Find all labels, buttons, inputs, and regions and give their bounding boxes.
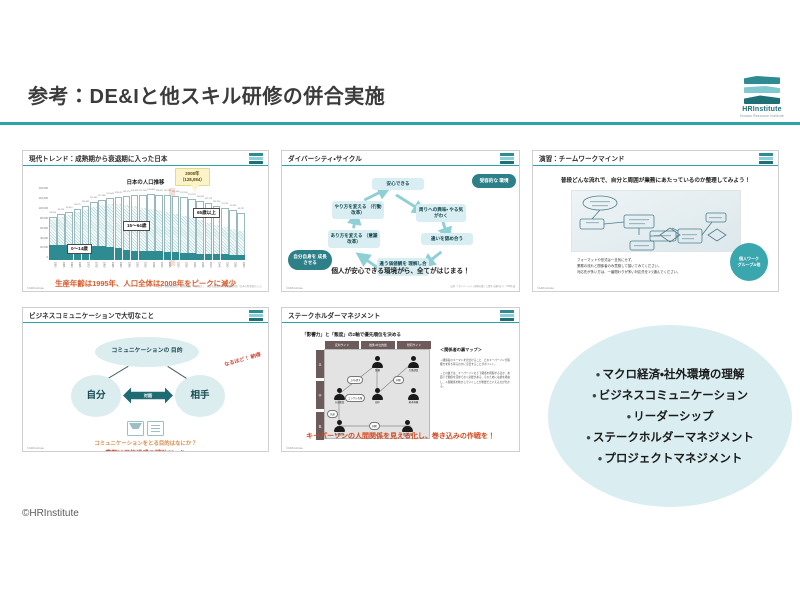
summary-oval-item-label: マクロ経済・社外環境の理解 — [602, 366, 744, 382]
panel-body: 安心できる 周りへの興味・ やる気がわく 違いを認め合う 違う価値観を 理解し合… — [282, 166, 519, 291]
panel-title: ステークホルダーマネジメント — [288, 310, 380, 320]
y-axis-tick-2: 100,000 — [39, 208, 48, 211]
bar-total-label: 107,276 — [205, 198, 213, 200]
slide: 参考：DE&Iと他スキル研修の併合実施 HRInstitute Human Re… — [0, 0, 800, 600]
map-note-body: →関係者のキーマンを見分けること、どのキーパーソンが影響力を持ち得るのかに注目す… — [440, 359, 512, 389]
chart-bar: 117,060 — [98, 200, 106, 260]
bar-total-label: 128,057 — [155, 190, 163, 192]
summary-oval-item-label: ビジネスコミュニケーション — [599, 387, 748, 403]
relationship-pill: 同期 — [393, 376, 404, 384]
bar-segment — [57, 245, 65, 260]
x-axis-tick-11: 2005 — [139, 262, 147, 274]
x-axis-tick-15: 2020 — [172, 262, 180, 274]
bar-segment — [188, 218, 196, 253]
y-axis-tick-3: 80,000 — [40, 218, 48, 221]
summary-oval-item-1: ビジネスコミュニケーション — [592, 387, 748, 403]
panel-body: コミュニケーションの 目的 自分 相手 対話 なるほど！ 納得 コミュニケーショ… — [23, 323, 268, 451]
bar-total-label: 119,125 — [188, 194, 195, 196]
panel-title: ビジネスコミュニケーションで大切なこと — [29, 310, 154, 320]
summary-oval-item-2: リーダーシップ — [626, 408, 713, 424]
bar-segment — [123, 196, 131, 205]
panel-lead-text: 普段どんな流れで、自分と周囲が業務にあたっているのか整理してみよう！ — [533, 176, 778, 184]
panel-business-communication[interactable]: ビジネスコミュニケーションで大切なこと コミュニケーションの 目的 自分 相手 … — [22, 307, 269, 452]
x-axis-tick-4: 1970 — [82, 262, 90, 274]
chart-title: 日本の人口推移 — [127, 178, 165, 186]
panel-title: 演習：チームワークマインド — [539, 153, 625, 163]
panel-instructions: フォーマットや形式は一旦気にせず、 業務の流れと関係者のみ意識して描いてみてくだ… — [577, 258, 680, 275]
panel-header: 現代トレンド：成熟期から衰退期に入った日本 — [23, 151, 268, 166]
flowchart-sketch-icon — [572, 191, 742, 253]
bar-segment — [221, 208, 229, 227]
bar-segment — [123, 250, 131, 260]
bar-total-label: 89,276 — [58, 209, 64, 211]
bar-segment — [106, 204, 114, 246]
logo-mark-icon — [744, 76, 780, 104]
relationship-pill: 同期 — [369, 422, 380, 430]
bar-total-label: 125,570 — [123, 191, 131, 193]
bar-total-label: 127,768 — [139, 190, 147, 192]
bar-total-label: 111,940 — [90, 197, 97, 199]
x-axis-tick-17: 2030 — [188, 262, 196, 274]
panel-diversity-cycle[interactable]: ダイバーシティ・サイクル — [281, 150, 520, 292]
bar-total-label: 97,076 — [222, 203, 228, 205]
bar-segment — [115, 204, 123, 248]
panel-logo-icon — [249, 310, 263, 321]
chart-bar: 97,076 — [221, 208, 229, 260]
x-axis-tick-21: 2050 — [221, 262, 229, 274]
bar-segment — [115, 197, 123, 205]
summary-oval: マクロ経済・社外環境の理解ビジネスコミュニケーションリーダーシップステークホルダ… — [548, 325, 792, 507]
x-axis-tick-5: 1975 — [90, 262, 98, 274]
bar-segment — [139, 195, 147, 208]
y-axis-tick-0: 140,000 — [39, 188, 48, 191]
chart-bar: 123,611 — [115, 197, 123, 260]
panel-message-secondary: 書類は目的達成の補助ツール — [23, 448, 268, 451]
bar-segment — [131, 251, 139, 260]
x-axis-tick-10: 2000 — [131, 262, 139, 274]
bar-segment — [82, 210, 90, 247]
panel-title: ダイバーシティ・サイクル — [288, 153, 362, 163]
copyright: ©HRInstitute — [22, 508, 79, 519]
chart-bar: 89,276 — [57, 214, 65, 260]
bar-total-label: 126,926 — [131, 190, 139, 192]
panel-population-trend[interactable]: 現代トレンド：成熟期から衰退期に入った日本 日本の人口推移 2008年 （128… — [22, 150, 269, 292]
panel-header: ビジネスコミュニケーションで大切なこと — [23, 308, 268, 323]
bar-total-label: 98,275 — [74, 204, 80, 206]
comm-node-other: 相手 — [175, 375, 225, 417]
comm-node-purpose: コミュニケーションの 目的 — [95, 337, 199, 367]
bar-segment — [196, 254, 204, 260]
panel-footer: ©HRInstitute — [537, 286, 554, 290]
bar-segment — [164, 212, 172, 252]
map-note-line-1: →関係者のキーマンを見分けること、どのキーパーソンが影響力を持ち得るのかに注目す… — [440, 359, 512, 368]
panel-footer: ©HRInstitute — [286, 446, 303, 450]
cycle-node-chigai: 違いを認め合う — [421, 233, 473, 245]
bar-total-label: 116,639 — [196, 196, 203, 198]
cycle-node-accepting-environment: 受容的な 環境 — [472, 174, 516, 188]
bar-segment — [49, 219, 57, 245]
bar-segment — [49, 245, 57, 260]
x-axis-tick-3: 1965 — [74, 262, 82, 274]
x-axis-tick-16: 2025 — [180, 262, 188, 274]
matrix-row-label-1: 中 — [316, 381, 324, 409]
x-axis-tick-2: 1960 — [65, 262, 73, 274]
badge-line-2: グループA他 — [738, 262, 761, 268]
matrix-col-label-1: 推進・中立的層 — [361, 341, 395, 349]
bar-segment — [237, 231, 245, 255]
bar-segment — [155, 251, 163, 260]
chart-y-axis: 140,000120,000100,00080,00060,00040,0002… — [24, 188, 48, 260]
x-axis-tick-22: 2055 — [229, 262, 237, 274]
chart-label-senior: 65歳以上 — [193, 208, 220, 218]
panel-logo-icon — [249, 153, 263, 164]
chart-x-axis: 1950195519601965197019751980198519901995… — [49, 262, 245, 274]
panel-logo-icon — [500, 153, 514, 164]
bar-segment — [98, 205, 106, 246]
bar-segment — [213, 254, 221, 260]
chart-bar: 126,146 — [172, 196, 180, 260]
bar-segment — [164, 252, 172, 260]
chart-bar: 127,095 — [164, 195, 172, 260]
x-axis-tick-6: 1980 — [98, 262, 106, 274]
summary-oval-item-3: ステークホルダーマネジメント — [586, 429, 754, 445]
bar-segment — [229, 229, 237, 255]
bar-segment — [155, 195, 163, 210]
panel-stakeholder-management[interactable]: ステークホルダーマネジメント 「影響力」と「態度」の2軸で優先順位を決める 反対… — [281, 307, 520, 452]
y-axis-tick-7: 0 — [47, 257, 48, 260]
y-axis-tick-1: 120,000 — [39, 198, 48, 201]
bar-total-label: 126,146 — [172, 191, 180, 193]
bar-segment — [115, 248, 123, 260]
x-axis-tick-9: 1995 — [123, 262, 131, 274]
instruction-line-3: 対応先が多い方は、一番関わりが多い対応先を1つ選んでください。 — [577, 270, 680, 276]
panel-body: 普段どんな流れで、自分と周囲が業務にあたっているのか整理してみよう！ — [533, 166, 778, 291]
bar-segment — [57, 217, 65, 245]
bar-segment — [180, 253, 188, 260]
bar-segment — [90, 207, 98, 246]
chart-peak-callout: 2008年 （128,084） — [175, 168, 210, 186]
bar-total-label: 93,419 — [66, 207, 72, 209]
x-axis-tick-8: 1990 — [115, 262, 123, 274]
chart-bar: 121,049 — [106, 198, 114, 260]
cycle-node-mawari: 周りへの興味・ やる気がわく — [416, 204, 466, 222]
comm-tool-icons — [127, 421, 164, 436]
summary-oval-item-0: マクロ経済・社外環境の理解 — [596, 366, 745, 382]
bar-total-label: 86,737 — [238, 208, 244, 210]
mail-icon — [127, 421, 144, 436]
bar-total-label: 122,544 — [180, 192, 188, 194]
bar-segment — [229, 210, 237, 229]
x-axis-tick-23: 2060 — [237, 262, 245, 274]
panel-body: 日本の人口推移 2008年 （128,084） 140,000120,00010… — [23, 166, 268, 291]
panel-teamwork-mind[interactable]: 演習：チームワークマインド 普段どんな流れで、自分と周囲が業務にあたっているのか… — [532, 150, 779, 292]
bar-segment — [139, 251, 147, 260]
logo-name: HRInstitute — [738, 106, 786, 113]
matrix-col-label-0: 反対サイド — [325, 341, 359, 349]
summary-oval-item-label: ステークホルダーマネジメント — [593, 429, 754, 445]
bar-segment — [147, 251, 155, 260]
x-axis-tick-14: 2015 — [164, 262, 172, 274]
stakeholder-person: 田中 — [371, 388, 384, 404]
x-axis-tick-7: 1985 — [106, 262, 114, 274]
summary-oval-item-4: プロジェクトマネジメント — [598, 450, 743, 466]
chart-bar: 122,544 — [180, 197, 188, 260]
stakeholder-person: 川田係長 — [333, 388, 346, 404]
chart-label-working: 15〜64歳 — [123, 221, 150, 231]
panel-body: 「影響力」と「態度」の2軸で優先順位を決める 反対サイド 推進・中立的層 賛同サ… — [282, 323, 519, 451]
panel-source-note: 出所：「ダイバーシティ推進の鍵」に関する資料より／HRI作成 — [450, 286, 515, 289]
panel-logo-icon — [500, 310, 514, 321]
exercise-mode-badge: 個人ワーク グループA他 — [730, 243, 768, 281]
bar-total-label: 123,611 — [115, 192, 122, 194]
matrix-row-label-0: 高 — [316, 350, 324, 378]
bar-segment — [196, 220, 204, 253]
stakeholder-person: 佐藤 — [371, 356, 384, 372]
document-icon — [147, 421, 164, 436]
panel-title: 現代トレンド：成熟期から衰退期に入った日本 — [29, 153, 167, 163]
bar-segment — [172, 214, 180, 252]
person-name: 大島部長 — [407, 368, 420, 372]
stakeholder-matrix: 反対サイド 推進・中立的層 賛同サイド 高 中 低 佐藤 — [324, 349, 430, 439]
callout-tail-icon — [191, 185, 199, 192]
x-axis-tick-1: 1955 — [57, 262, 65, 274]
logo-tagline: Human Resource Institute — [738, 114, 786, 118]
bar-segment — [131, 195, 139, 206]
chart-source-note: 出所：総務省統計局「国勢調査」「人口推計」／国立社会保障・人口問題研究所「日本の… — [158, 286, 263, 289]
relationship-pill: 上司・部下 — [347, 376, 363, 384]
bar-segment — [98, 246, 106, 260]
header-accent-rule — [0, 122, 800, 125]
bar-segment — [164, 195, 172, 212]
bar-total-label: 102,210 — [213, 201, 221, 203]
person-name: 川田係長 — [333, 400, 346, 404]
relationship-pill: コンサル先輩 — [345, 394, 365, 402]
bar-segment — [180, 197, 188, 216]
panel-lead-text: 「影響力」と「態度」の2軸で優先順位を決める — [302, 332, 401, 338]
chart-bar: 128,057 — [155, 195, 163, 260]
x-axis-tick-0: 1950 — [49, 262, 57, 274]
chart-label-young: 0〜14歳 — [67, 244, 92, 254]
dialogue-arrow-icon: 対話 — [123, 386, 173, 405]
callout-value: （128,084） — [180, 177, 205, 183]
stakeholder-person: 鈴木専務 — [407, 388, 420, 404]
panel-header: 演習：チームワークマインド — [533, 151, 778, 166]
x-axis-tick-20: 2045 — [213, 262, 221, 274]
bar-segment — [221, 227, 229, 254]
bar-segment — [205, 223, 213, 254]
page-title: 参考：DE&Iと他スキル研修の併合実施 — [28, 80, 385, 109]
y-axis-tick-6: 20,000 — [40, 247, 48, 250]
panel-message: 個人が安心できる環境から、全てがはじまる！ — [282, 265, 519, 275]
handwritten-flowchart-image — [571, 190, 741, 252]
bar-segment — [221, 254, 229, 260]
bar-segment — [155, 210, 163, 252]
bar-segment — [172, 196, 180, 215]
bar-total-label: 127,095 — [164, 190, 172, 192]
dialogue-arrow-label: 対話 — [144, 393, 152, 399]
panel-message: キーパーソンの人間関係を見える化し、巻き込みの作戦を！ — [282, 431, 519, 441]
bar-segment — [229, 255, 237, 260]
bar-segment — [172, 252, 180, 260]
relationship-pill: 兄弟 — [327, 410, 338, 418]
bar-total-label: 117,060 — [98, 195, 105, 197]
panel-footer: ©HRInstitute — [27, 446, 44, 450]
bar-segment — [147, 194, 155, 209]
bar-segment — [237, 213, 245, 231]
slide-header: 参考：DE&Iと他スキル研修の併合実施 — [0, 72, 800, 126]
comm-node-self: 自分 — [71, 375, 121, 417]
panel-footer: ©HRInstitute — [27, 286, 44, 290]
person-name: 鈴木専務 — [407, 400, 420, 404]
chart-bar: 91,933 — [229, 210, 237, 260]
reaction-text: なるほど！ 納得 — [219, 351, 267, 372]
bar-segment — [180, 216, 188, 253]
y-axis-tick-4: 60,000 — [40, 228, 48, 231]
matrix-col-label-2: 賛同サイド — [397, 341, 431, 349]
hr-institute-logo: HRInstitute Human Resource Institute — [738, 76, 786, 122]
map-note-line-2: →上の裏では、キーパーソンの上下関係を把握するほか、水面下で関係を深めておく必要… — [440, 372, 512, 390]
summary-oval-item-label: リーダーシップ — [633, 408, 713, 424]
bar-total-label: 121,049 — [106, 193, 114, 195]
bar-segment — [65, 215, 73, 246]
cycle-node-arikata: あり方を変える （意識改革） — [328, 230, 380, 248]
cycle-node-anshin: 安心できる — [372, 178, 424, 190]
stakeholder-person: 大島部長 — [407, 356, 420, 372]
x-axis-tick-12: 2008 — [147, 262, 155, 274]
panel-logo-icon — [759, 153, 773, 164]
person-name: 佐藤 — [371, 368, 384, 372]
person-name: 田中 — [371, 400, 384, 404]
panel-message-primary: コミュニケーションをとる目的はなにか？ — [23, 439, 268, 447]
x-axis-tick-18: 2035 — [196, 262, 204, 274]
bar-segment — [106, 247, 114, 260]
bar-segment — [188, 253, 196, 260]
bar-total-label: 104,665 — [82, 201, 90, 203]
panel-header: ステークホルダーマネジメント — [282, 308, 519, 323]
bar-total-label: 128,084 — [147, 189, 155, 191]
map-note-title: ＜関係者の裏マップ＞ — [440, 347, 482, 353]
y-axis-tick-5: 40,000 — [40, 238, 48, 241]
chart-bar: 83,200 — [49, 217, 57, 260]
bar-segment — [74, 212, 82, 246]
panel-header: ダイバーシティ・サイクル — [282, 151, 519, 166]
summary-oval-item-label: プロジェクトマネジメント — [604, 450, 742, 466]
x-axis-tick-19: 2040 — [205, 262, 213, 274]
bar-segment — [213, 225, 221, 254]
bar-total-label: 83,200 — [50, 212, 56, 214]
bar-segment — [237, 255, 245, 260]
bar-segment — [205, 254, 213, 260]
chart-bar: 86,737 — [237, 213, 245, 260]
panel-footer: ©HRInstitute — [286, 286, 303, 290]
x-axis-tick-13: 2010 — [155, 262, 163, 274]
cycle-node-yarikata: やり方を変える （行動改革） — [332, 201, 384, 219]
bar-total-label: 91,933 — [230, 205, 236, 207]
